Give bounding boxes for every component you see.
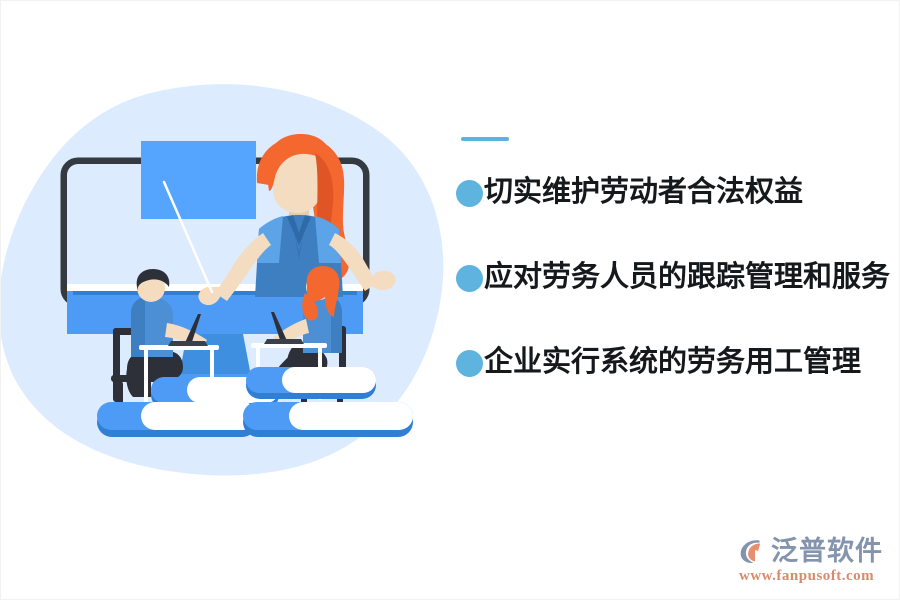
logo-wordmark: 泛普软件: [771, 538, 883, 565]
bullet-dot-icon: [456, 350, 483, 377]
slide-canvas: 切实维护劳动者合法权益 应对劳务人员的跟踪管理和服务 企业实行系统的劳务用工管理…: [0, 0, 900, 600]
bullet-dot-icon: [456, 180, 483, 207]
bullet-item-1-label: 切实维护劳动者合法权益: [484, 177, 803, 209]
bullet-list: 切实维护劳动者合法权益 应对劳务人员的跟踪管理和服务 企业实行系统的劳务用工管理: [456, 171, 896, 385]
bullet-item-1: 切实维护劳动者合法权益: [456, 171, 896, 215]
bullet-item-2-label: 应对劳务人员的跟踪管理和服务: [484, 262, 890, 294]
accent-rule: [461, 137, 509, 141]
logo-url: www.fanpusoft.com: [739, 568, 874, 585]
brand-logo: 泛普软件 www.fanpusoft.com: [737, 536, 883, 585]
bullet-item-3-label: 企业实行系统的劳务用工管理: [484, 347, 861, 379]
online-class-illustration: [1, 1, 461, 600]
bullet-item-2: 应对劳务人员的跟踪管理和服务: [456, 256, 896, 300]
logo-top-row: 泛普软件: [737, 536, 883, 566]
fanpu-logo-icon: [737, 536, 767, 566]
bullet-content-panel: 切实维护劳动者合法权益 应对劳务人员的跟踪管理和服务 企业实行系统的劳务用工管理: [456, 119, 896, 419]
book-platform-row-bottom: [97, 402, 413, 437]
bullet-item-3: 企业实行系统的劳务用工管理: [456, 341, 896, 385]
presentation-board: [141, 141, 256, 219]
bullet-dot-icon: [456, 265, 483, 292]
